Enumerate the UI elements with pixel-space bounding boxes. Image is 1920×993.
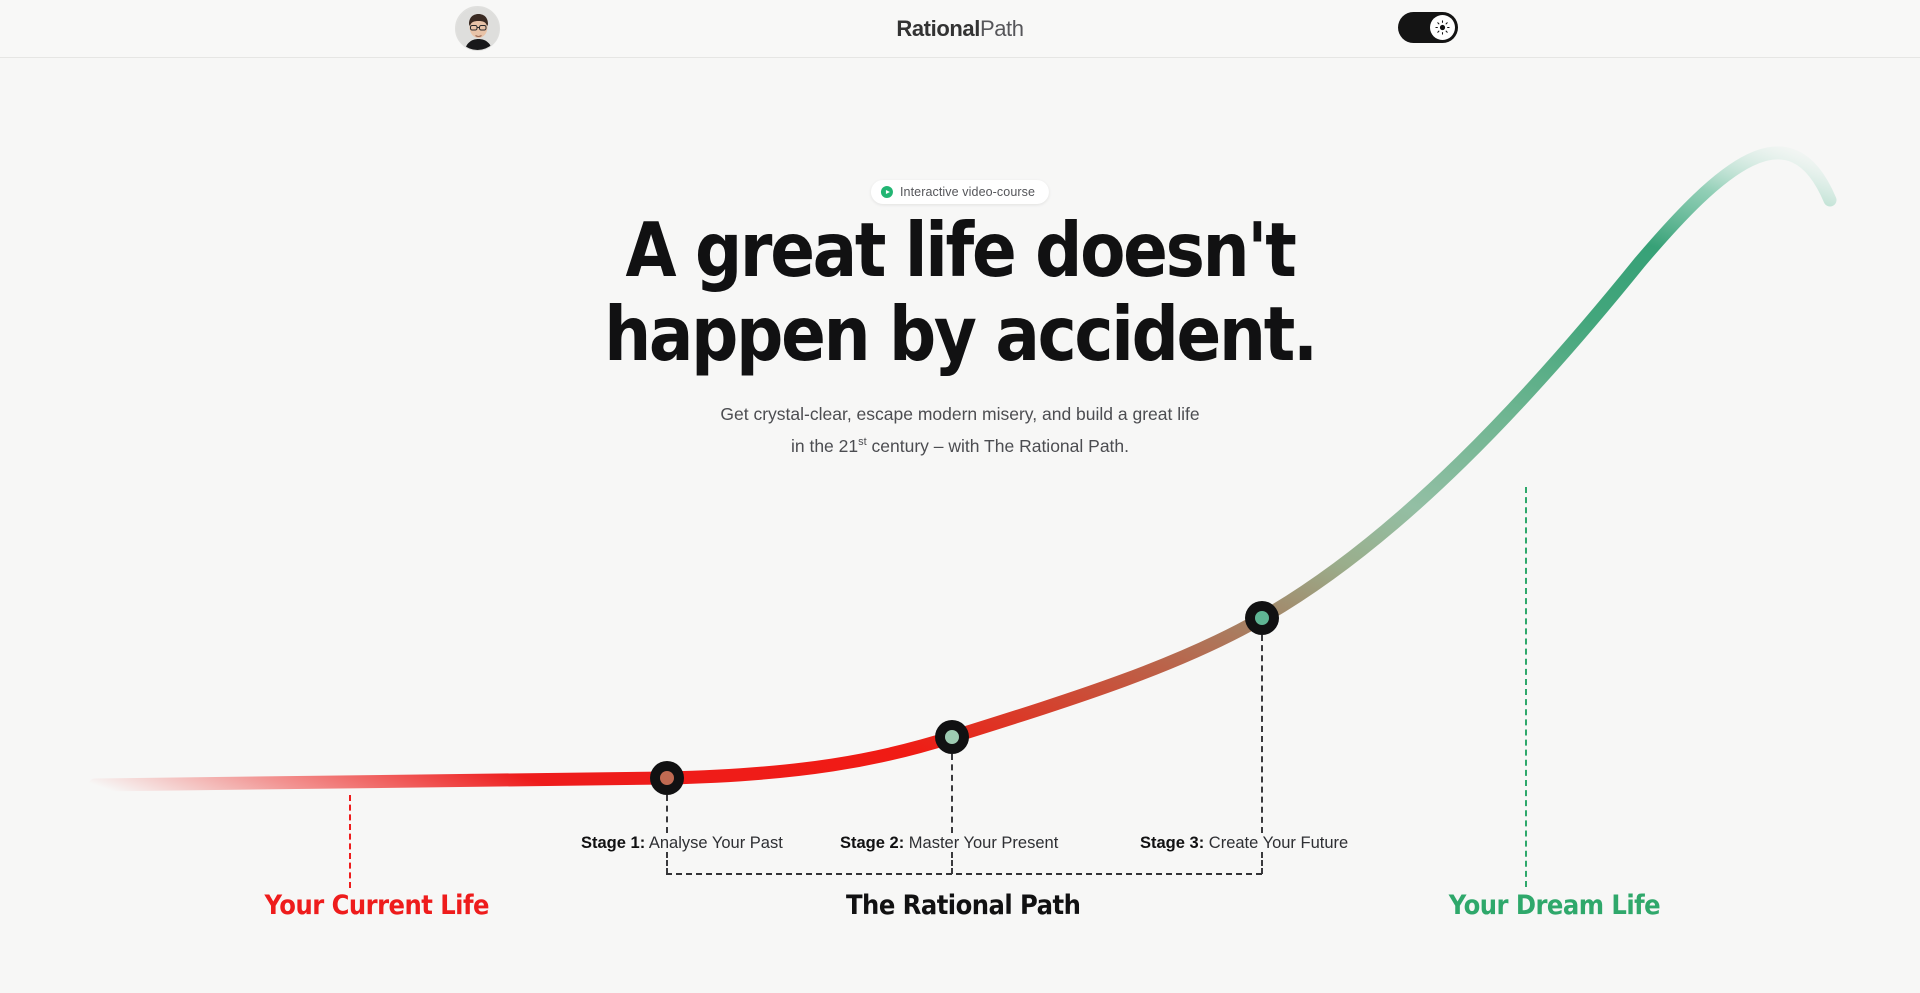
stage-3-node-center <box>1255 611 1269 625</box>
badge-label: Interactive video-course <box>900 185 1035 199</box>
stage-3-label: Stage 3: Create Your Future <box>1140 834 1348 853</box>
stage-1-label: Stage 1: Analyse Your Past <box>581 834 783 853</box>
stage-2-label: Stage 2: Master Your Present <box>840 834 1058 853</box>
stage-2-text: Master Your Present <box>909 834 1059 852</box>
sun-icon <box>1435 20 1450 35</box>
rational-path-label: The Rational Path <box>846 890 1080 921</box>
stage-1-guideline-bottom <box>666 852 668 874</box>
subtitle-line-1: Get crystal-clear, escape modern misery,… <box>0 400 1920 428</box>
stage-1-node[interactable] <box>650 761 684 795</box>
ordinal-suffix: st <box>858 436 867 448</box>
stage-2-guideline-bottom <box>951 852 953 874</box>
stage-1-guideline-top <box>666 795 668 833</box>
stage-1-number: Stage 1: <box>581 834 645 852</box>
stage-1-node-center <box>660 771 674 785</box>
stage-2-guideline-top <box>951 754 953 833</box>
avatar[interactable] <box>455 6 500 51</box>
hero-section: Interactive video-course A great life do… <box>0 0 1920 993</box>
logo-light: Path <box>980 16 1024 42</box>
subtitle-line-2: in the 21st century – with The Rational … <box>0 428 1920 460</box>
page-title: A great life doesn't happen by accident. <box>115 208 1805 376</box>
subtitle-line-2-after: century – with The Rational Path. <box>867 436 1129 456</box>
dream-life-guideline <box>1525 487 1527 887</box>
theme-toggle[interactable] <box>1398 12 1458 43</box>
current-life-label: Your Current Life <box>264 890 488 921</box>
stage-3-node[interactable] <box>1245 601 1279 635</box>
stage-3-number: Stage 3: <box>1140 834 1204 852</box>
headline-line-2: happen by accident. <box>115 292 1805 376</box>
stage-2-node-center <box>945 730 959 744</box>
headline-line-1: A great life doesn't <box>115 208 1805 292</box>
current-life-guideline <box>349 795 351 888</box>
play-circle-icon <box>881 186 893 198</box>
dream-life-label: Your Dream Life <box>1449 890 1660 921</box>
page-subtitle: Get crystal-clear, escape modern misery,… <box>0 400 1920 460</box>
interactive-course-badge[interactable]: Interactive video-course <box>871 180 1049 204</box>
subtitle-line-2-before: in the 21 <box>791 436 858 456</box>
stage-1-text: Analyse Your Past <box>649 834 783 852</box>
stage-2-node[interactable] <box>935 720 969 754</box>
stages-bracket <box>666 873 1262 875</box>
avatar-image <box>456 7 500 51</box>
stage-3-guideline-top <box>1261 635 1263 833</box>
brand-logo: RationalPath <box>0 0 1920 58</box>
logo-bold: Rational <box>896 16 980 42</box>
top-header: RationalPath <box>0 0 1920 58</box>
stage-3-text: Create Your Future <box>1209 834 1348 852</box>
stage-3-guideline-bottom <box>1261 852 1263 874</box>
theme-toggle-knob <box>1430 15 1455 40</box>
stage-2-number: Stage 2: <box>840 834 904 852</box>
